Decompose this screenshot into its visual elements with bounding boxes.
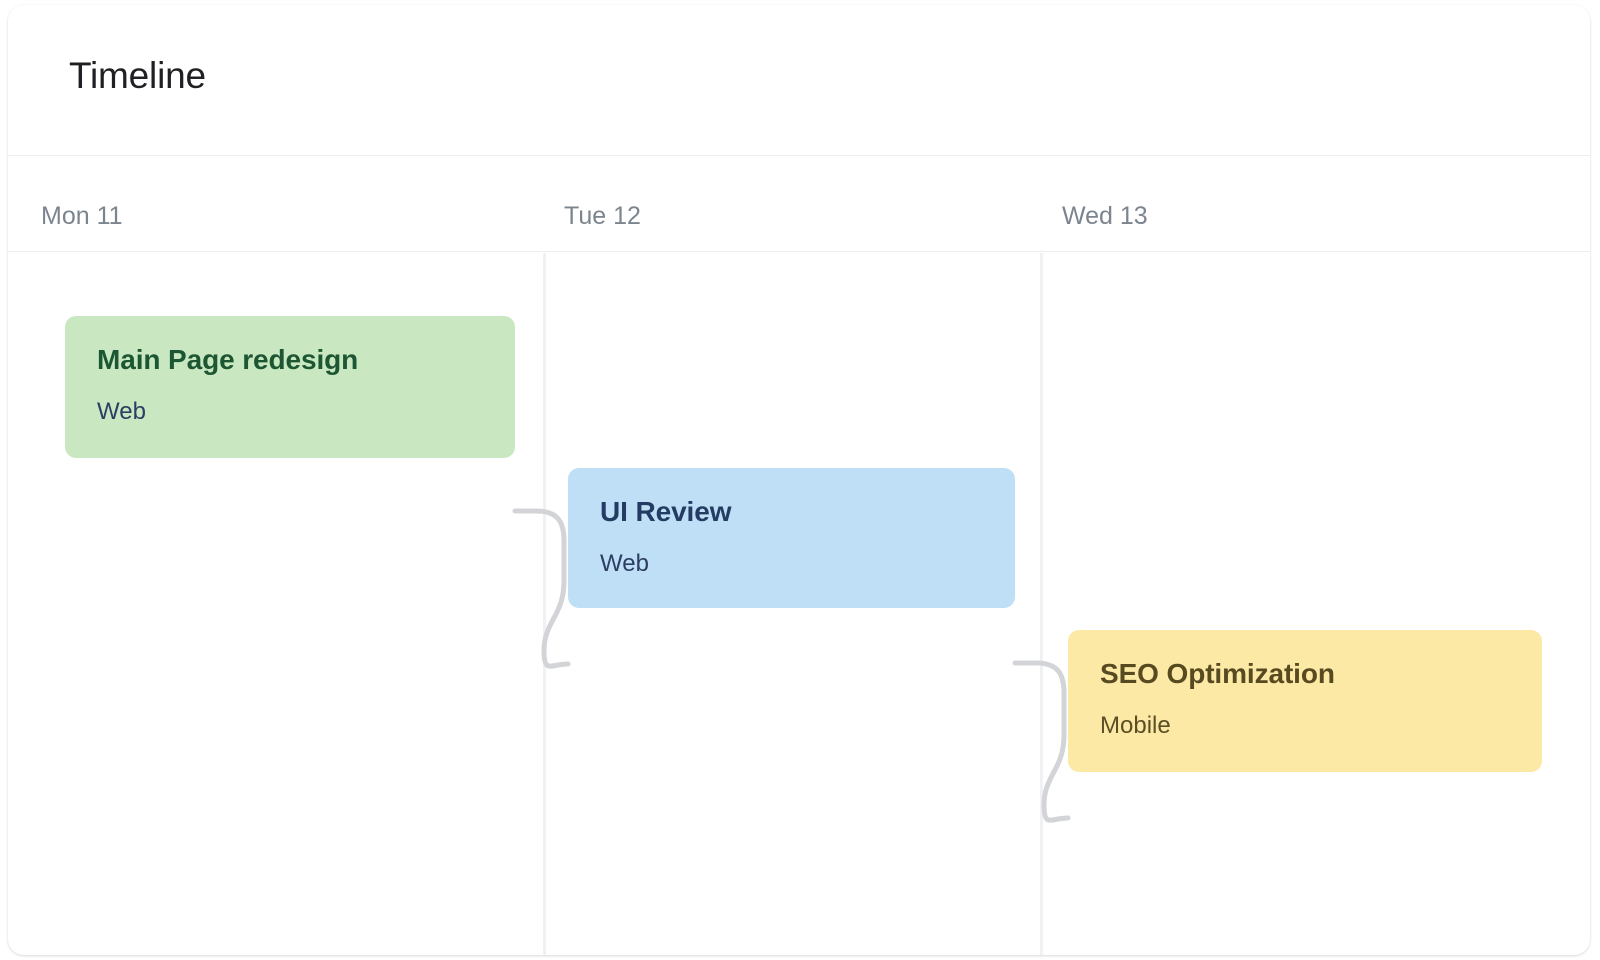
day-header-tue-12[interactable]: Tue 12	[564, 204, 641, 229]
task-subtitle: Web	[97, 400, 146, 424]
day-header-mon-11[interactable]: Mon 11	[41, 204, 123, 229]
task-card-main-page-redesign[interactable]: Main Page redesign Web	[65, 316, 515, 458]
day-header-wed-13[interactable]: Wed 13	[1062, 204, 1148, 229]
task-title: Main Page redesign	[97, 346, 358, 374]
day-header-row: Mon 11 Tue 12 Wed 13	[8, 157, 1590, 252]
connector-main-page-redesign-to-ui-review	[515, 511, 568, 666]
task-subtitle: Mobile	[1100, 714, 1171, 738]
column-divider-wed	[1040, 253, 1043, 955]
timeline-grid: Main Page redesign Web UI Review Web SEO…	[8, 253, 1590, 955]
column-divider-tue	[543, 253, 546, 955]
timeline-panel: Timeline Mon 11 Tue 12 Wed 13 Main Page …	[8, 5, 1590, 955]
task-card-seo-optimization[interactable]: SEO Optimization Mobile	[1068, 630, 1542, 772]
page-title: Timeline	[69, 57, 206, 94]
task-subtitle: Web	[600, 552, 649, 576]
task-title: UI Review	[600, 498, 731, 526]
panel-header: Timeline	[8, 5, 1590, 156]
task-card-ui-review[interactable]: UI Review Web	[568, 468, 1015, 608]
task-title: SEO Optimization	[1100, 660, 1335, 688]
